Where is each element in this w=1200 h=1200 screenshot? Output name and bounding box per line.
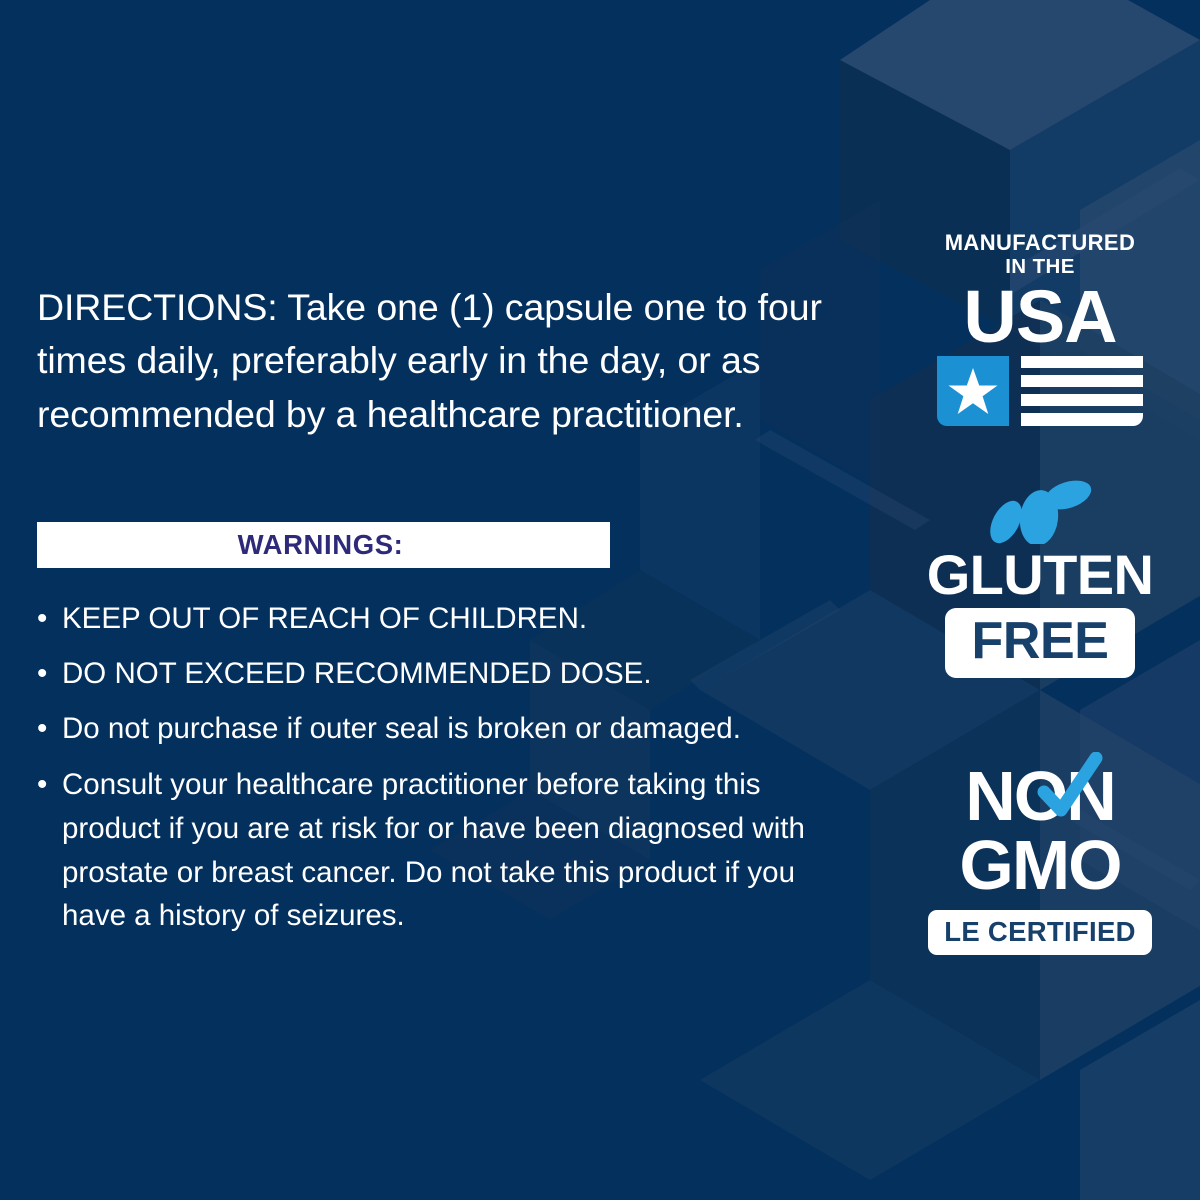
bullet-dot-icon: • xyxy=(37,653,47,695)
warnings-list: • KEEP OUT OF REACH OF CHILDREN. • DO NO… xyxy=(37,598,857,938)
warnings-heading: WARNINGS: xyxy=(238,529,404,561)
badge-gluten-free: GLUTEN FREE xyxy=(880,478,1200,678)
list-item: • KEEP OUT OF REACH OF CHILDREN. xyxy=(37,598,857,640)
bullet-dot-icon: • xyxy=(37,598,47,640)
list-item-text: Consult your healthcare practitioner bef… xyxy=(62,768,805,933)
list-item-text: DO NOT EXCEED RECOMMENDED DOSE. xyxy=(62,657,652,690)
non-gmo-line2: GMO xyxy=(959,831,1120,900)
checkmark-icon xyxy=(1034,752,1106,828)
certification-badge-column: MANUFACTURED IN THE USA xyxy=(880,0,1200,1200)
gluten-free-pill: FREE xyxy=(945,608,1134,678)
leaves-icon xyxy=(980,478,1100,544)
list-item-text: KEEP OUT OF REACH OF CHILDREN. xyxy=(62,602,587,635)
non-gmo-line1-wrap: NON xyxy=(965,762,1115,831)
list-item: • Do not purchase if outer seal is broke… xyxy=(37,708,857,750)
warnings-header-bar: WARNINGS: xyxy=(37,522,610,568)
non-gmo-pill: LE CERTIFIED xyxy=(928,910,1152,955)
directions-text: DIRECTIONS: Take one (1) capsule one to … xyxy=(37,281,849,442)
gluten-free-word: GLUTEN xyxy=(880,546,1200,604)
usa-badge-line1: MANUFACTURED xyxy=(880,232,1200,254)
text-column: DIRECTIONS: Take one (1) capsule one to … xyxy=(0,0,880,1200)
bullet-dot-icon: • xyxy=(37,763,47,807)
list-item-text: Do not purchase if outer seal is broken … xyxy=(62,712,741,745)
usa-badge-word: USA xyxy=(880,281,1200,352)
badge-non-gmo: NON GMO LE CERTIFIED xyxy=(880,762,1200,955)
list-item: • Consult your healthcare practitioner b… xyxy=(37,763,857,939)
list-item: • DO NOT EXCEED RECOMMENDED DOSE. xyxy=(37,653,857,695)
bullet-dot-icon: • xyxy=(37,708,47,750)
supplement-label-panel: DIRECTIONS: Take one (1) capsule one to … xyxy=(0,0,1200,1200)
usa-flag-icon xyxy=(937,356,1143,426)
badge-manufactured-in-usa: MANUFACTURED IN THE USA xyxy=(880,232,1200,426)
